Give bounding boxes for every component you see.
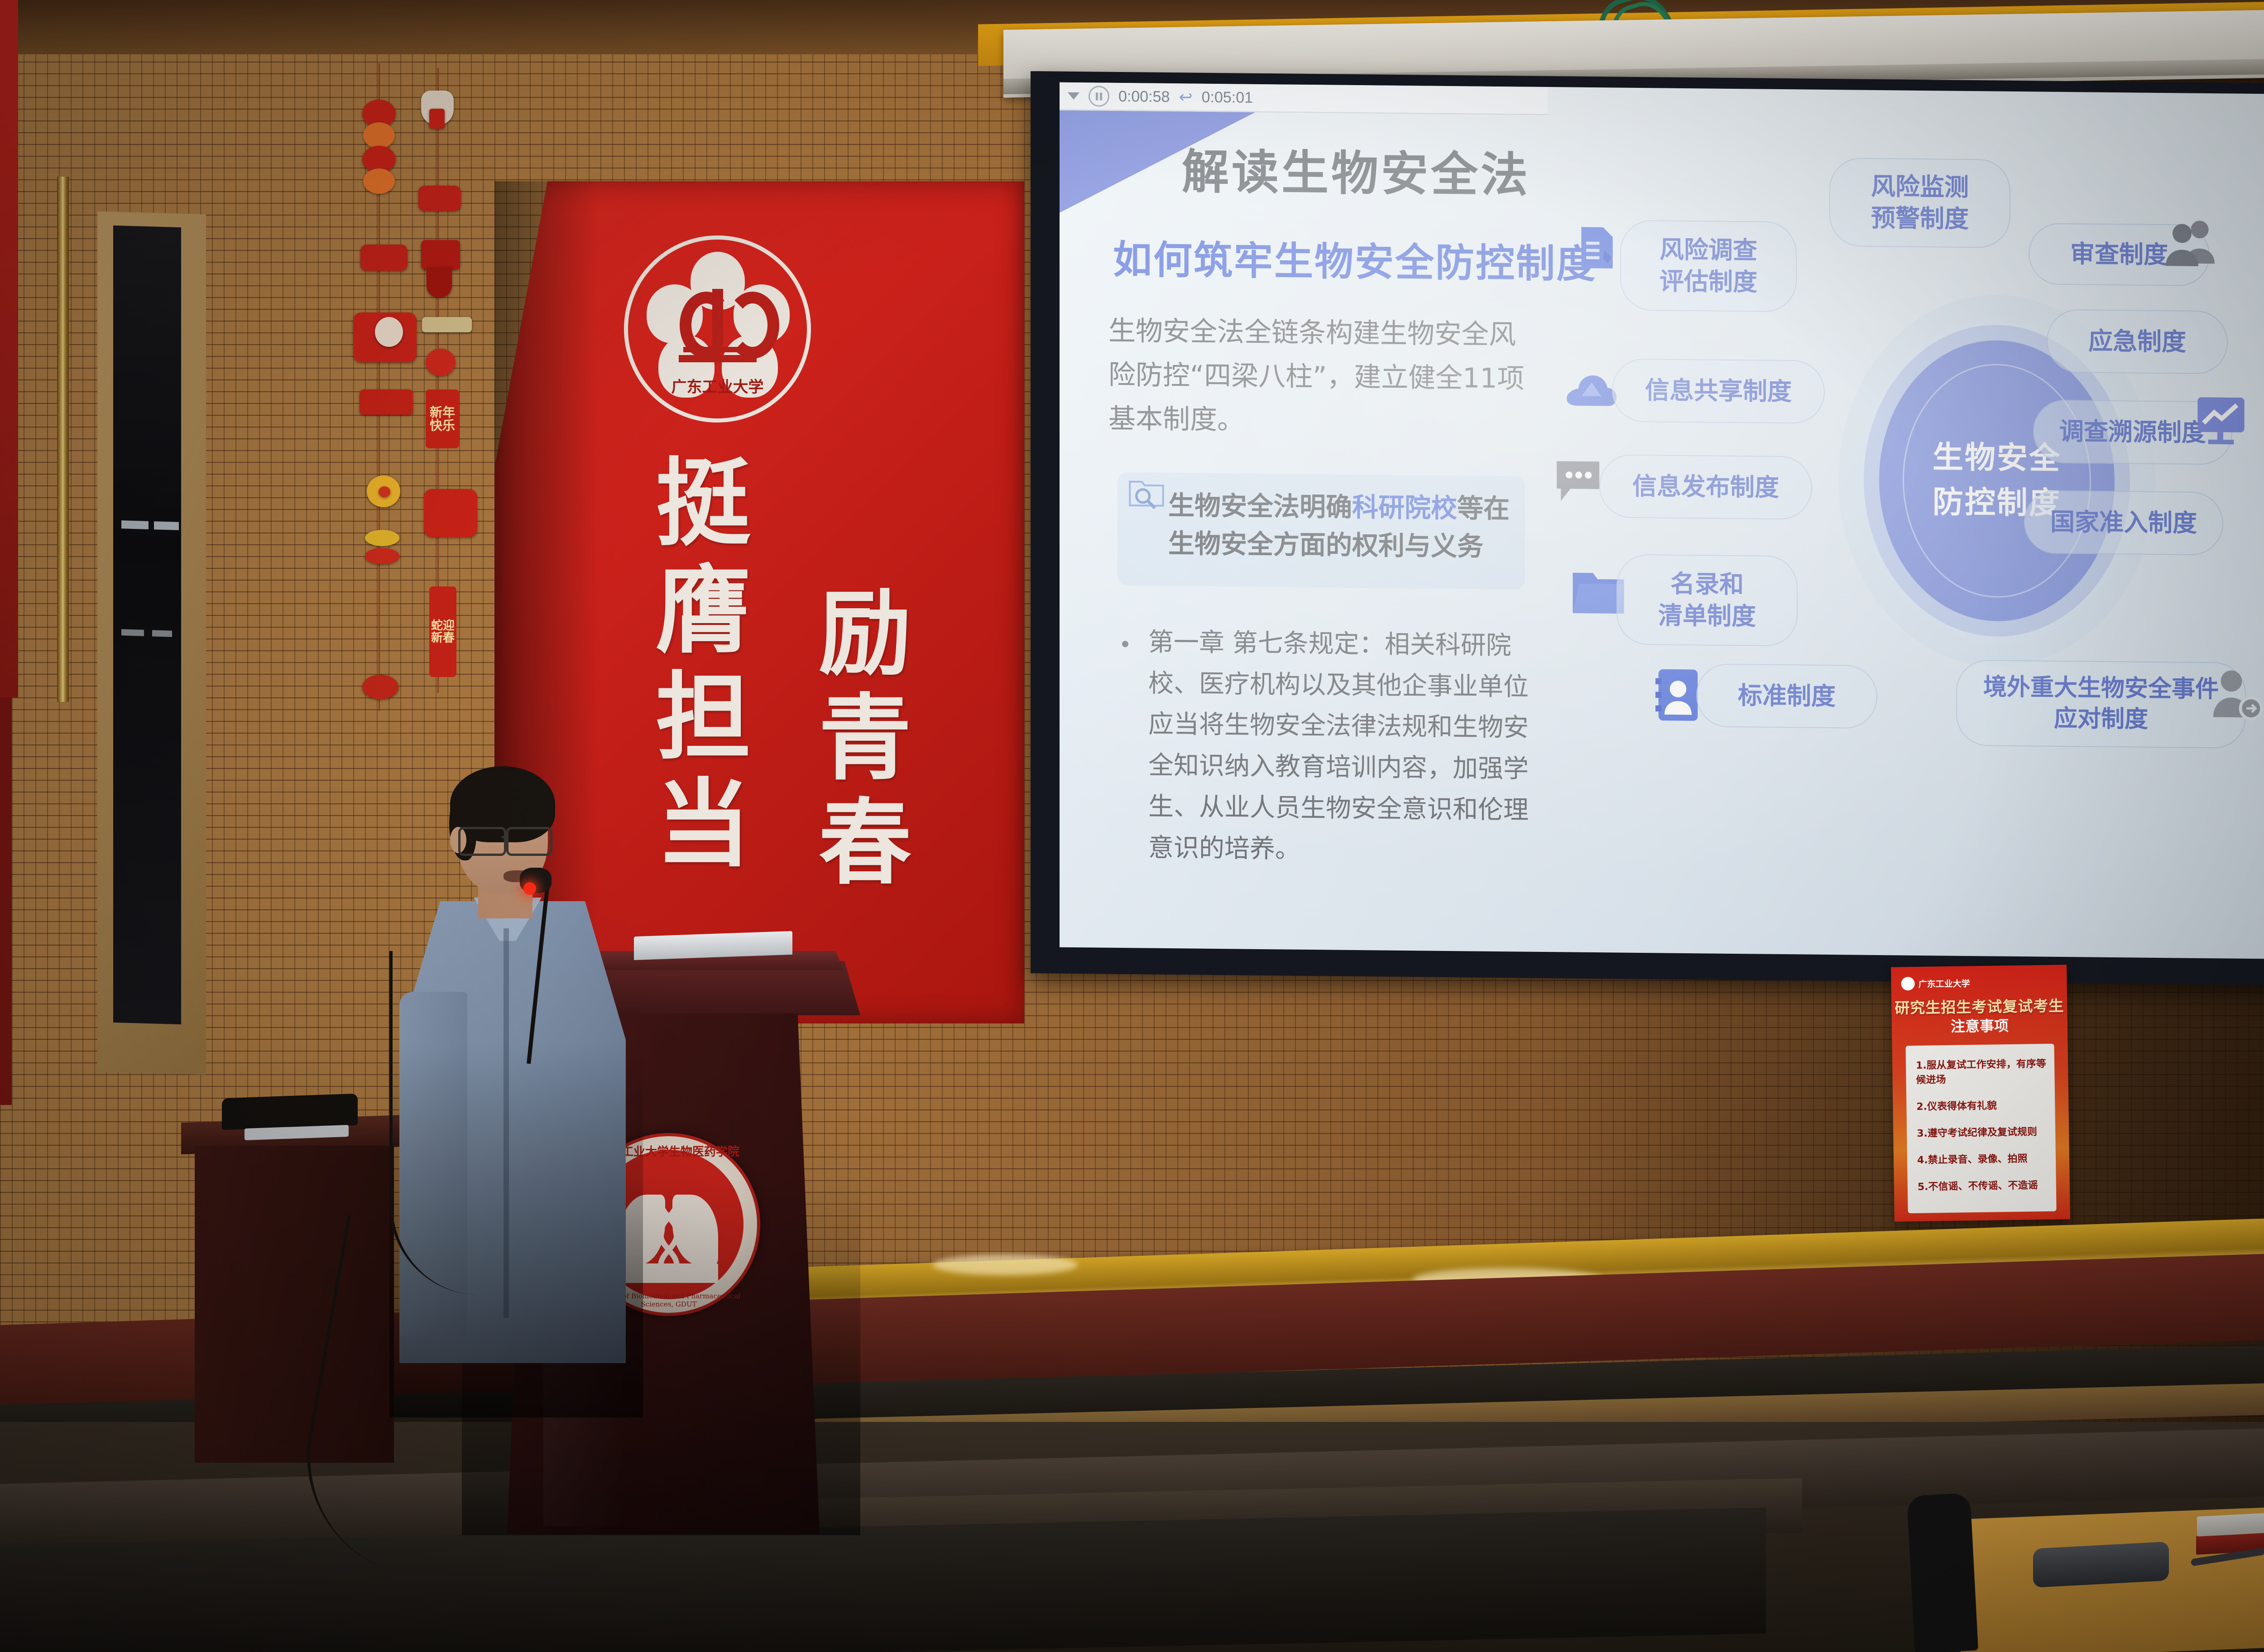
ornament-plaque-icon <box>418 186 461 211</box>
equipment-bag <box>222 1094 358 1130</box>
chair <box>1907 1493 1978 1652</box>
cloud-upload-icon <box>1567 368 1616 409</box>
ornament-lion-body-icon <box>429 109 445 129</box>
ornament-round-icon <box>362 675 398 699</box>
ornament-fu-icon <box>421 240 460 270</box>
poster-rule: 4.禁止录音、录像、拍照 <box>1917 1150 2051 1167</box>
node-4-label: 应急制度 <box>2088 326 2186 358</box>
chevron-down-icon[interactable] <box>1068 92 1079 100</box>
diagram-node-1[interactable]: 风险监测 预警制度 <box>1829 158 2010 248</box>
ornament-lantern-icon <box>363 168 395 194</box>
emblem-cn-text: 广东工业大学 <box>672 375 764 397</box>
ornament-snake-newyear-text: 蛇迎新春 <box>429 586 456 677</box>
ornament-doll-face-icon <box>375 317 403 347</box>
ornament-coin-icon <box>365 548 399 564</box>
diagram-node-7[interactable]: 名录和 清单制度 <box>1616 554 1798 647</box>
elapsed-time: 0:00:58 <box>1118 87 1170 106</box>
node-7-line1: 名录和 <box>1670 568 1744 600</box>
poster-rule: 1.服从复试工作安排，有序等候进场 <box>1916 1056 2050 1086</box>
window-gleam-3 <box>121 629 144 636</box>
exam-notice-poster: 广东工业大学 研究生招生考试复试考生 注意事项 1.服从复试工作安排，有序等候进… <box>1891 965 2070 1221</box>
document-pen-icon <box>1578 226 1616 270</box>
slide-bullet-text: 第一章 第七条规定：相关科研院校、医疗机构以及其他企事业单位应当将生物安全法律法… <box>1148 622 1538 873</box>
ornament-apple-icon <box>426 349 456 376</box>
poster-emblem-icon <box>1901 977 1914 990</box>
diagram-node-10[interactable]: 境外重大生物安全事件 应对制度 <box>1956 660 2246 749</box>
poster-subheading: 注意事项 <box>1892 1013 2068 1037</box>
gold-trim-vertical <box>57 177 69 702</box>
bullet-dot-icon <box>1122 641 1128 647</box>
ornament-flower-center-icon <box>379 486 390 497</box>
ornament-tassel-icon <box>427 267 452 297</box>
diagram-node-8[interactable]: 国家准入制度 <box>2024 490 2223 555</box>
poster-logo: 广东工业大学 <box>1901 976 1970 990</box>
wall-red-strip-lower <box>0 697 12 1105</box>
loop-reset-icon[interactable]: ↩ <box>1179 89 1192 105</box>
slide-subtitle: 如何筑牢生物安全防控制度 <box>1113 228 1597 289</box>
node-6-label: 调查溯源制度 <box>2059 416 2206 448</box>
node-2-label: 审查制度 <box>2070 239 2168 271</box>
poster-rule: 2.仪表得体有礼貌 <box>1916 1097 2050 1113</box>
node-5-label: 信息发布制度 <box>1632 471 1779 503</box>
window-gleam-4 <box>152 630 172 637</box>
node-0-line2: 评估制度 <box>1660 265 1757 298</box>
window-gleam-1 <box>121 520 149 529</box>
lecture-hall-photo: 新年快乐 蛇迎新春 广东工业大学 挺膺担当 励青春 <box>0 0 2264 1652</box>
microphone-led-icon <box>523 882 536 895</box>
node-0-line1: 风险调查 <box>1660 234 1757 266</box>
node-9-label: 标准制度 <box>1738 680 1836 712</box>
poster-rule: 5.不信谣、不传谣、不造谣 <box>1918 1177 2052 1193</box>
node-1-line1: 风险监测 <box>1871 171 1969 203</box>
monitor-chart-icon <box>2196 396 2246 446</box>
banner-text-left: 励青春 <box>811 584 903 898</box>
poster-org: 广东工业大学 <box>1918 977 1970 990</box>
person-arrow-icon <box>2209 668 2263 722</box>
hl-emphasis: 科研院校 <box>1352 492 1457 523</box>
ornament-coin-icon <box>365 530 399 546</box>
gold-rail-gleam <box>933 1254 1078 1275</box>
ornament-plaque-icon <box>360 245 408 271</box>
slide-highlight-text: 生物安全法明确科研院校等在生物安全方面的权利与义务 <box>1168 486 1526 566</box>
hl-prefix: 生物安全法明确 <box>1168 490 1352 523</box>
slide-diagram: 生物安全 防控制度 风险调查 评估制度 风险监测 预警制度 审查制度 <box>1567 141 2264 919</box>
node-8-label: 国家准入制度 <box>2050 506 2197 539</box>
ornament-lion-dance-icon <box>424 489 477 537</box>
diagram-node-4[interactable]: 应急制度 <box>2047 309 2228 375</box>
slide-title: 解读生物安全法 <box>1182 133 1530 205</box>
node-10-line1: 境外重大生物安全事件 <box>1983 672 2219 706</box>
id-card-icon <box>1655 668 1701 722</box>
chat-bubble-icon <box>1553 458 1603 504</box>
banner-text-right: 挺膺担当 <box>648 453 743 880</box>
diagram-node-3[interactable]: 信息共享制度 <box>1612 358 1825 424</box>
emblem-core-icon <box>677 289 758 357</box>
total-time: 0:05:01 <box>1202 88 1253 106</box>
diagram-core: 生物安全 防控制度 <box>1879 339 2115 622</box>
ornament-lantern-icon <box>363 122 395 149</box>
ornament-newyear-text: 新年快乐 <box>426 389 459 448</box>
two-people-icon <box>2164 218 2219 268</box>
university-emblem: 广东工业大学 <box>624 235 811 423</box>
window-glass <box>113 226 181 1024</box>
diagram-node-0[interactable]: 风险调查 评估制度 <box>1620 220 1797 312</box>
node-1-line2: 预警制度 <box>1871 202 1969 235</box>
node-3-label: 信息共享制度 <box>1645 375 1792 408</box>
diagram-node-9[interactable]: 标准制度 <box>1696 663 1877 729</box>
poster-rule: 3.遵守考试纪律及复试规则 <box>1917 1124 2051 1140</box>
slide-paragraph: 生物安全法全链条构建生物安全风险防控“四梁八柱”，建立健全11项基本制度。 <box>1108 309 1534 446</box>
desk-stapler <box>2033 1542 2169 1588</box>
ornament-couplet-icon <box>422 317 472 332</box>
diagram-node-5[interactable]: 信息发布制度 <box>1599 454 1812 520</box>
presenter-toolbar[interactable]: 0:00:58 ↩ 0:05:01 <box>1060 82 1548 115</box>
poster-rules-list: 1.服从复试工作安排，有序等候进场 2.仪表得体有礼貌 3.遵守考试纪律及复试规… <box>1906 1044 2057 1214</box>
ornament-redpacket-icon <box>360 389 413 415</box>
pause-icon[interactable] <box>1089 86 1109 106</box>
wall-red-strip-left <box>0 0 18 697</box>
window-gleam-2 <box>154 521 179 530</box>
node-7-line2: 清单制度 <box>1658 600 1756 632</box>
projected-slide: 0:00:58 ↩ 0:05:01 解读生物安全法 如何筑牢生物安全防控制度 生… <box>1060 82 2264 960</box>
magnifier-folder-icon <box>1127 473 1166 512</box>
node-10-line2: 应对制度 <box>2054 704 2148 735</box>
